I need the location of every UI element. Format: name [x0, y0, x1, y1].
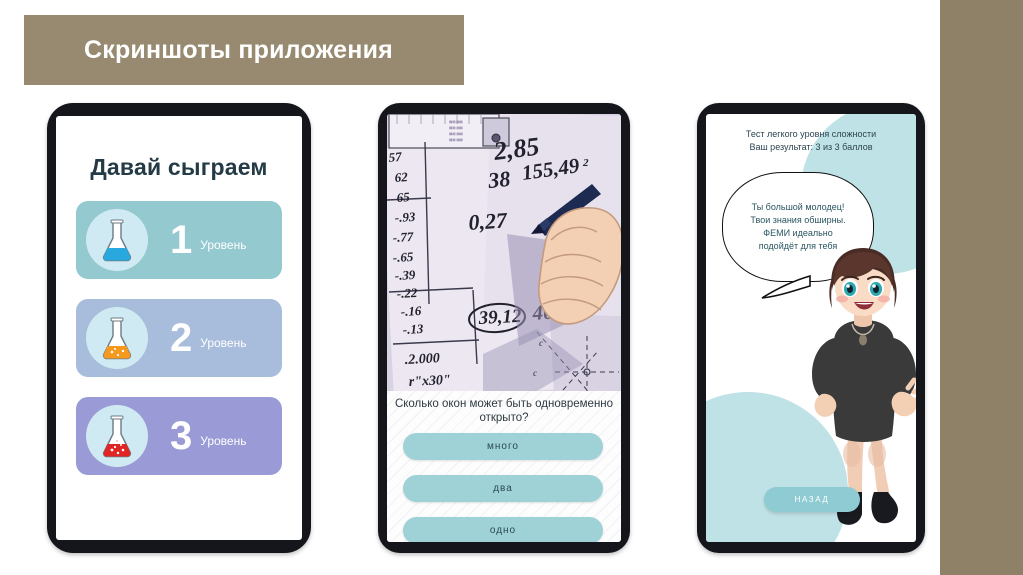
svg-text:-.16: -.16 [400, 303, 422, 319]
svg-text:57: 57 [388, 149, 403, 165]
flask-icon [98, 414, 136, 458]
flask-icon [98, 218, 136, 262]
result-header: Тест легкого уровня сложности Ваш резуль… [706, 128, 916, 154]
answer-option-2[interactable]: одно [403, 517, 603, 542]
phone1-screen: Давай сыграем 1 Уровень [56, 116, 302, 540]
answer-option-1[interactable]: два [403, 475, 603, 502]
level-word-2: Уровень [200, 326, 246, 350]
svg-text:.2.000: .2.000 [404, 351, 440, 368]
svg-text:▤▤ ▤▤: ▤▤ ▤▤ [449, 138, 463, 142]
quiz-panel: Сколько окон может быть одновременно отк… [387, 391, 621, 542]
answer-option-0[interactable]: много [403, 433, 603, 460]
level-card-1[interactable]: 1 Уровень [76, 201, 282, 279]
level-word-3: Уровень [200, 424, 246, 448]
slide-canvas: Скриншоты приложения Давай сыграем 1 Уро… [0, 0, 1023, 575]
flask-icon [98, 316, 136, 360]
svg-text:0,27: 0,27 [468, 207, 509, 235]
svg-text:62: 62 [394, 169, 409, 185]
flask-badge-2 [86, 307, 148, 369]
svg-text:-.65: -.65 [392, 249, 414, 265]
phone-mockup-level-select: Давай сыграем 1 Уровень [47, 103, 311, 553]
svg-text:65: 65 [396, 189, 411, 205]
phone-mockup-quiz: ▤▤ ▤▤▤▤ ▤▤ ▤▤ ▤▤▤▤ ▤▤ 5 [378, 103, 630, 553]
level-word-1: Уровень [200, 228, 246, 252]
level-card-2[interactable]: 2 Уровень [76, 299, 282, 377]
svg-text:38: 38 [486, 166, 511, 193]
result-test-name: Тест легкого уровня сложности [706, 128, 916, 141]
result-score: Ваш результат: 3 из 3 баллов [706, 141, 916, 154]
back-button[interactable]: НАЗАД [764, 487, 860, 512]
svg-text:-.39: -.39 [394, 267, 416, 283]
quiz-illustration: ▤▤ ▤▤▤▤ ▤▤ ▤▤ ▤▤▤▤ ▤▤ 5 [387, 114, 621, 391]
phone2-screen: ▤▤ ▤▤▤▤ ▤▤ ▤▤ ▤▤▤▤ ▤▤ 5 [387, 114, 621, 542]
flask-badge-3 [86, 405, 148, 467]
phone-mockup-result: Тест легкого уровня сложности Ваш резуль… [697, 103, 925, 553]
level-number-3: 3 [170, 416, 192, 456]
flask-badge-1 [86, 209, 148, 271]
side-color-band [940, 0, 1023, 575]
handwriting-photo: ▤▤ ▤▤▤▤ ▤▤ ▤▤ ▤▤▤▤ ▤▤ 5 [387, 114, 621, 391]
svg-text:-.22: -.22 [396, 285, 418, 301]
svg-text:-.93: -.93 [394, 209, 416, 225]
level-card-3[interactable]: 3 Уровень [76, 397, 282, 475]
svg-text:-.13: -.13 [402, 321, 424, 337]
svg-text:▤▤ ▤▤: ▤▤ ▤▤ [449, 120, 463, 124]
svg-text:2: 2 [582, 157, 589, 169]
level-number-2: 2 [170, 318, 192, 358]
quiz-question: Сколько окон может быть одновременно отк… [393, 397, 615, 425]
level-select-title: Давай сыграем [56, 154, 302, 181]
svg-text:▤▤ ▤▤: ▤▤ ▤▤ [449, 132, 463, 136]
level-number-1: 1 [170, 220, 192, 260]
page-title: Скриншоты приложения [84, 36, 393, 65]
slide-title-banner: Скриншоты приложения [24, 15, 464, 85]
svg-text:▤▤ ▤▤: ▤▤ ▤▤ [449, 126, 463, 130]
svg-text:r"x30": r"x30" [408, 373, 451, 390]
phone3-screen: Тест легкого уровня сложности Ваш резуль… [706, 114, 916, 542]
svg-text:-.77: -.77 [392, 229, 414, 245]
